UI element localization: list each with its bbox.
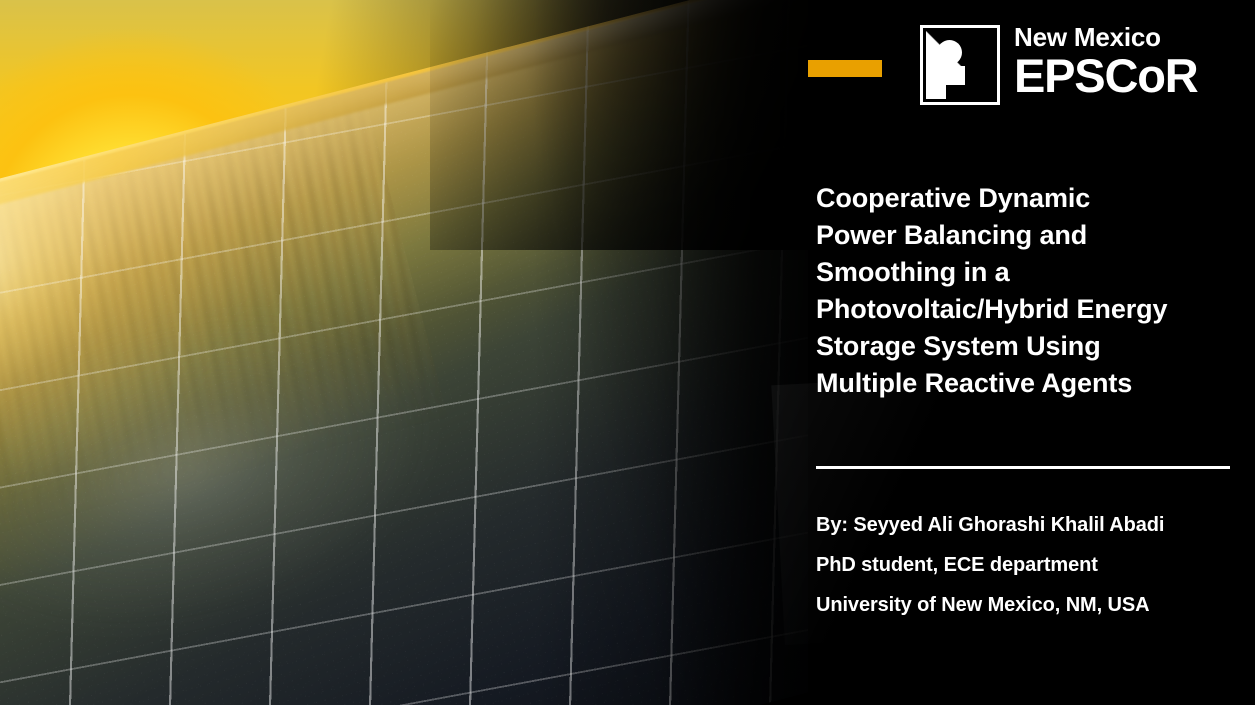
epscor-logo: New Mexico EPSCoR: [920, 25, 1197, 105]
epscor-logo-wordmark: New Mexico EPSCoR: [1014, 25, 1197, 99]
title-divider: [816, 466, 1230, 469]
logo-sun-circle-icon: [937, 40, 962, 65]
logo-wordmark-line-1: New Mexico: [1014, 23, 1197, 51]
title-line: Storage System Using: [816, 328, 1236, 365]
title-line: Smoothing in a: [816, 254, 1236, 291]
epscor-logo-mark-icon: [920, 25, 1000, 105]
author-affiliation-line: University of New Mexico, NM, USA: [816, 585, 1246, 625]
author-block: By: Seyyed Ali Ghorashi Khalil Abadi PhD…: [816, 505, 1246, 625]
logo-mark-inner: [926, 31, 994, 99]
author-role-line: PhD student, ECE department: [816, 545, 1246, 585]
title-line: Cooperative Dynamic: [816, 180, 1236, 217]
slide-title: Cooperative Dynamic Power Balancing and …: [816, 180, 1236, 402]
title-slide: New Mexico EPSCoR Cooperative Dynamic Po…: [0, 0, 1255, 705]
logo-step-block-right: [964, 66, 994, 99]
title-line: Multiple Reactive Agents: [816, 365, 1236, 402]
content-panel: New Mexico EPSCoR Cooperative Dynamic Po…: [808, 0, 1255, 705]
author-name-line: By: Seyyed Ali Ghorashi Khalil Abadi: [816, 505, 1246, 545]
logo-step-notch: [946, 66, 965, 85]
accent-dash: [808, 60, 882, 77]
logo-wordmark-line-2: EPSCoR: [1014, 52, 1197, 99]
title-line: Power Balancing and: [816, 217, 1236, 254]
title-line: Photovoltaic/Hybrid Energy: [816, 291, 1236, 328]
background-photo: [0, 0, 860, 705]
slide-header: New Mexico EPSCoR: [808, 0, 1255, 132]
